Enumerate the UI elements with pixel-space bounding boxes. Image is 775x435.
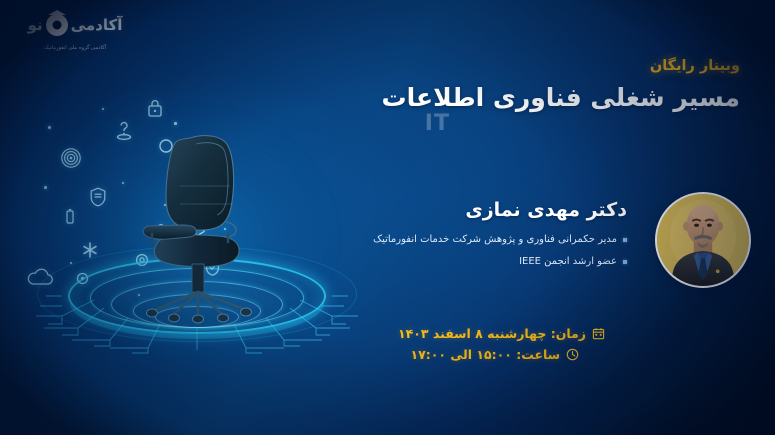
calendar-icon bbox=[592, 327, 605, 340]
sparkle-dot bbox=[44, 186, 47, 189]
brand-tagline: آکادمی گروه ملی انفورماتیک bbox=[15, 45, 135, 52]
graduation-cap-icon bbox=[46, 14, 68, 36]
list-item: مدیر حکمرانی فناوری و پژوهش شرکت خدمات ا… bbox=[297, 232, 627, 248]
cap-shape bbox=[48, 9, 66, 15]
title-watermark: IT bbox=[320, 111, 740, 136]
date-text: زمان: چهارشنبه ۸ اسفند ۱۴۰۳ bbox=[398, 326, 586, 341]
date-row: زمان: چهارشنبه ۸ اسفند ۱۴۰۳ bbox=[295, 326, 605, 341]
battery-icon bbox=[65, 208, 75, 226]
speaker-credentials: مدیر حکمرانی فناوری و پژوهش شرکت خدمات ا… bbox=[297, 232, 627, 270]
sparkle-dot bbox=[48, 126, 51, 129]
list-item: عضو ارشد انجمن IEEE bbox=[297, 254, 627, 270]
sparkle-dot bbox=[102, 108, 104, 110]
bullet-icon bbox=[623, 238, 627, 242]
logo-word-right: آکادمی bbox=[71, 18, 123, 33]
time-row: ساعت: ۱۵:۰۰ الی ۱۷:۰۰ bbox=[295, 347, 605, 362]
logo-mark: آکادمی نو bbox=[15, 8, 135, 42]
fingerprint-icon bbox=[59, 146, 83, 170]
office-chair-icon bbox=[130, 130, 282, 332]
sparkle-dot bbox=[174, 122, 177, 125]
portrait-photo bbox=[657, 194, 749, 286]
lock-icon bbox=[146, 98, 164, 118]
title-block: وبینار رایگان مسیر شغلی فناوری اطلاعات I… bbox=[320, 58, 740, 136]
credential-text: مدیر حکمرانی فناوری و پژوهش شرکت خدمات ا… bbox=[297, 232, 617, 248]
shield-icon bbox=[88, 186, 108, 208]
credential-text: عضو ارشد انجمن IEEE bbox=[297, 254, 617, 270]
speaker-info: دکتر مهدی نمازی مدیر حکمرانی فناوری و پژ… bbox=[297, 198, 627, 277]
webinar-poster: آکادمی نو آکادمی گروه ملی انفورماتیک وبی… bbox=[0, 0, 775, 435]
eyebrow-label: وبینار رایگان bbox=[320, 58, 740, 75]
page-title: مسیر شغلی فناوری اطلاعات bbox=[320, 82, 740, 113]
avatar bbox=[655, 192, 751, 288]
logo-word-left: نو bbox=[28, 18, 43, 33]
speaker-name: دکتر مهدی نمازی bbox=[297, 198, 627, 223]
schedule-block: زمان: چهارشنبه ۸ اسفند ۱۴۰۳ ساعت: ۱۵:۰۰ … bbox=[295, 326, 605, 368]
clock-icon bbox=[566, 348, 579, 361]
brand-logo[interactable]: آکادمی نو آکادمی گروه ملی انفورماتیک bbox=[15, 8, 135, 52]
sparkle-dot bbox=[122, 182, 124, 184]
bullet-icon bbox=[623, 260, 627, 264]
time-text: ساعت: ۱۵:۰۰ الی ۱۷:۰۰ bbox=[410, 347, 560, 362]
